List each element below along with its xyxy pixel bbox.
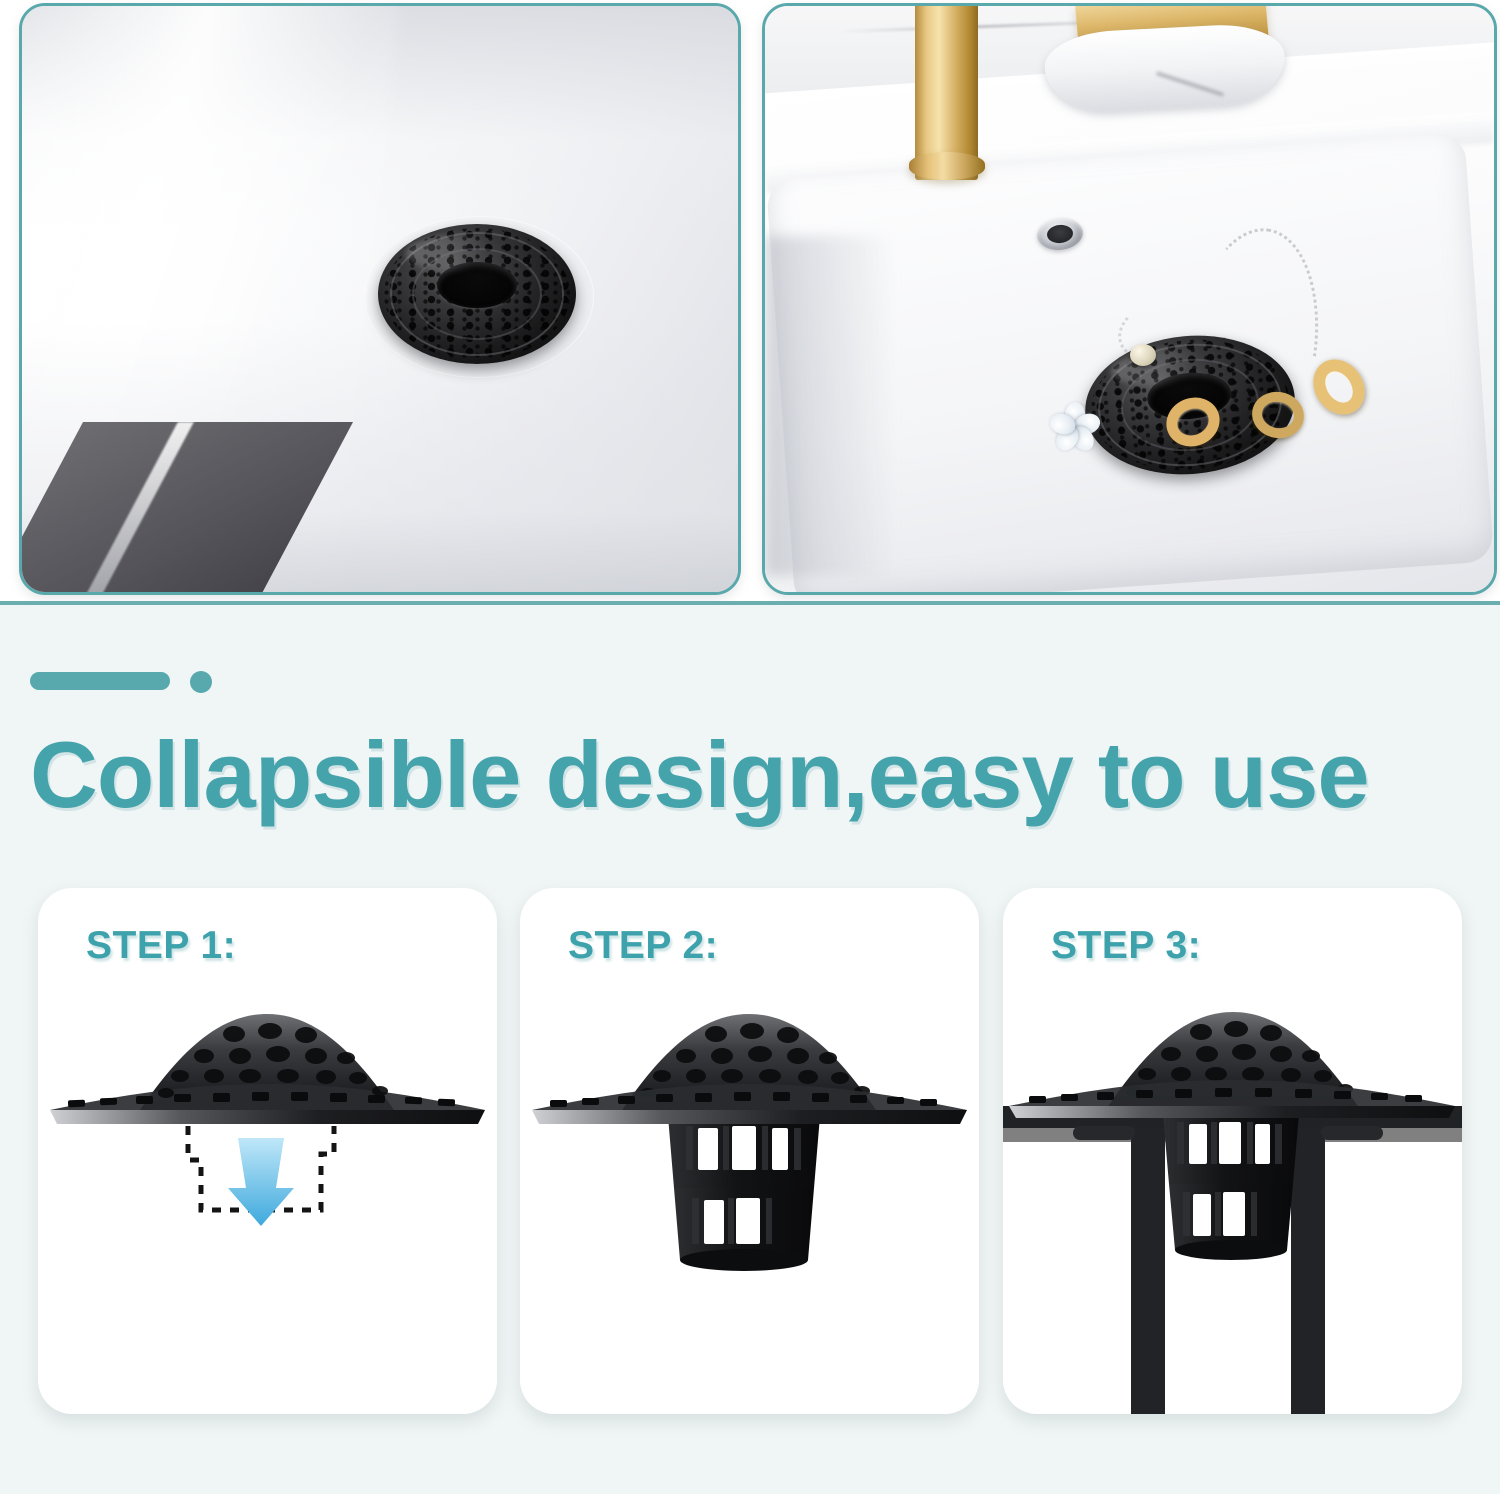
strainer-flange [532, 1110, 967, 1124]
strainer-flange [1009, 1106, 1455, 1118]
step-card-1: STEP 1: [38, 888, 497, 1414]
pipe-wall-right [1291, 1128, 1325, 1414]
drain-strainer-icon [378, 224, 576, 364]
product-infographic: Collapsible design,easy to use STEP 1: [0, 0, 1500, 1494]
decorative-dash-icon [30, 672, 170, 690]
photo-panel-left [19, 3, 741, 595]
photo-panel-right [762, 3, 1497, 595]
crystal-flower-charm-icon [1047, 398, 1103, 454]
strainer-cage-basket [1163, 1114, 1299, 1260]
steps-container: STEP 1: [0, 888, 1500, 1414]
necklace-pendant [1130, 344, 1156, 366]
step-3-diagram [1003, 888, 1462, 1414]
sink-left-shadow [765, 236, 895, 576]
step-1-diagram [38, 888, 497, 1414]
down-arrow-icon [228, 1138, 294, 1226]
page-title: Collapsible design,easy to use [30, 726, 1460, 825]
strainer-gloss [406, 235, 509, 271]
gold-faucet-base [909, 152, 985, 180]
step-2-diagram [520, 888, 979, 1414]
step-card-3: STEP 3: [1003, 888, 1462, 1414]
white-basin-image [22, 6, 738, 592]
strainer-flange [50, 1110, 485, 1124]
step-card-2: STEP 2: [520, 888, 979, 1414]
strainer-cage-basket [668, 1116, 820, 1271]
decorative-dot-icon [190, 671, 212, 693]
pipe-wall-left [1131, 1128, 1165, 1414]
photo-section [0, 0, 1500, 604]
sink-with-jewelry-image [765, 6, 1494, 592]
